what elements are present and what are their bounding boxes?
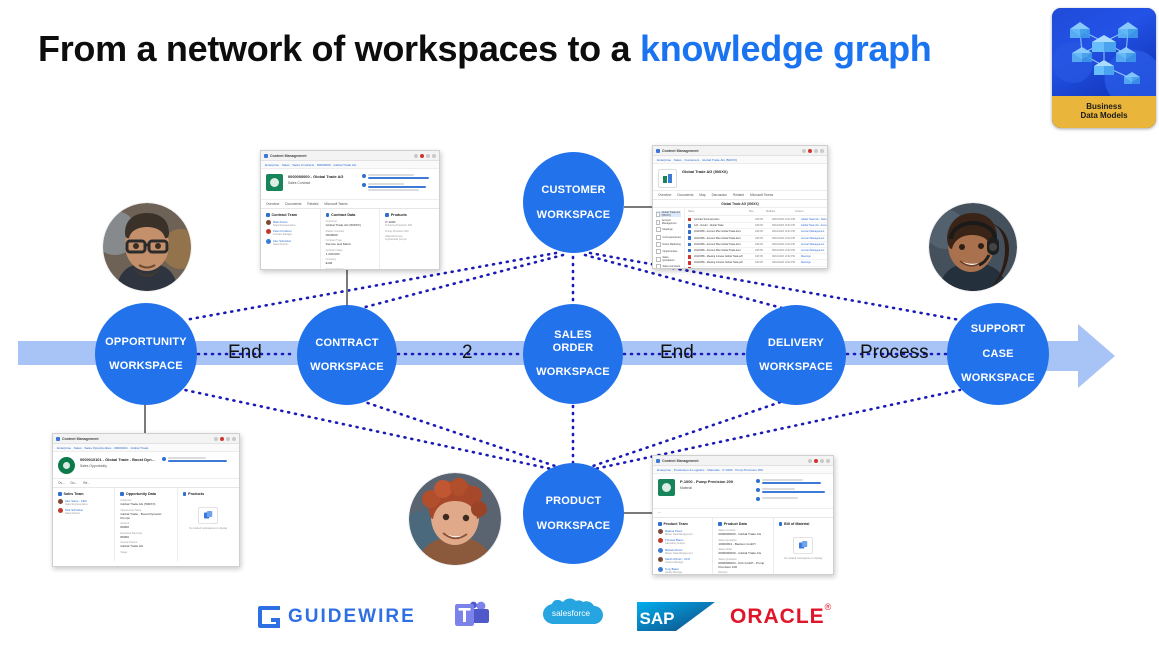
field: Opportunity NameGlobal Trade - Boost Dyn… — [120, 509, 171, 520]
node-label-line: WORKSPACE — [955, 372, 1041, 384]
panel-title: Products — [385, 213, 434, 217]
app-icon — [56, 437, 60, 441]
file-icon — [688, 261, 691, 265]
node-label-line: CASE — [955, 348, 1041, 360]
field: Pump Precision 200 — [385, 230, 434, 233]
activity-feed — [162, 457, 234, 466]
screenshot-opportunity-workspace[interactable]: Content Management Enterprise · Sales · … — [52, 433, 240, 567]
record-title: 0000010101 - Global Trade - Boost Dynami… — [80, 457, 157, 462]
record-header: 0000010101 - Global Trade - Boost Dynami… — [53, 452, 239, 479]
logo-sap: SAP — [637, 598, 715, 636]
tree-item[interactable]: Sales Quotations — [656, 256, 681, 262]
sap-icon: SAP — [637, 602, 715, 632]
field: Sales Order0000000000 - Global Trade AG — [718, 548, 767, 555]
field: Sales Quotation0000000004 - Kirk GmbH - … — [718, 558, 767, 569]
field: Contract Value1.200.000 — [326, 249, 375, 256]
edge-label-end-1: End — [228, 342, 262, 364]
registered-trademark-icon: ® — [825, 602, 832, 612]
salesforce-wordmark: salesforce — [552, 608, 591, 618]
salesforce-cloud-icon: salesforce — [533, 595, 609, 631]
node-label-line: CONTRACT — [304, 337, 390, 349]
tree-item[interactable]: Sales Contracts — [656, 264, 681, 269]
panel-opportunity-data: Opportunity Data CustomerGlobal Trade AG… — [115, 488, 177, 561]
settings-icon — [232, 437, 236, 441]
node-label-line: WORKSPACE — [529, 366, 617, 378]
settings-icon — [820, 149, 824, 153]
avatar — [266, 229, 271, 234]
screenshot-titlebar: Content Management — [261, 151, 439, 161]
tab-documents[interactable]: Documents — [677, 193, 693, 197]
field: Amount80000 — [120, 522, 171, 529]
list-item: Alex SchreiberSales Director — [266, 239, 315, 246]
search-icon — [808, 459, 812, 463]
panel-products: Products No related workspaces to displa… — [178, 488, 239, 561]
node-contract-workspace[interactable]: CONTRACT WORKSPACE — [297, 305, 397, 405]
tab-strip[interactable]: Overview Documents Related Microsoft Tea… — [261, 200, 439, 209]
app-icon — [264, 154, 268, 158]
app-icon — [656, 459, 660, 463]
panel-title: Product Team — [658, 522, 707, 526]
tab-microsoft-teams[interactable]: Microsoft Teams — [324, 202, 347, 206]
edge-label-end-2: End — [660, 342, 694, 364]
screenshot-product-workspace[interactable]: Content Management Enterprise · Producti… — [652, 455, 834, 575]
tab-documents[interactable]: Do... — [71, 481, 78, 485]
list-item: Sarah Schulz - CFOContent Manager — [658, 557, 707, 564]
help-icon — [814, 149, 818, 153]
file-icon — [688, 267, 691, 269]
empty-state-text: No related workspaces to display — [189, 527, 227, 530]
avatar — [162, 457, 166, 461]
avatar — [658, 538, 663, 543]
field: Account NameGlobal Trade AG — [120, 541, 171, 548]
node-label-line: WORKSPACE — [304, 361, 390, 373]
activity-feed — [756, 479, 828, 504]
empty-state-text: No related workspaces to display — [784, 557, 822, 560]
empty-state-icon — [793, 537, 813, 554]
tab-overview[interactable]: Ov... — [58, 481, 65, 485]
node-support-case-workspace[interactable]: SUPPORT CASE WORKSPACE — [947, 303, 1049, 405]
search-icon — [414, 154, 418, 158]
avatar — [756, 488, 760, 492]
panel-title: Product Data — [718, 522, 767, 526]
tab-related[interactable]: Related — [307, 202, 318, 206]
node-customer-workspace[interactable]: CUSTOMER WORKSPACE — [523, 152, 624, 253]
tab-overview[interactable]: Overview — [658, 193, 671, 197]
record-subtitle: Material — [680, 486, 751, 490]
file-icon — [688, 236, 691, 240]
record-title: P-1000 - Pump Precision 200 — [680, 479, 751, 484]
search-icon — [214, 437, 218, 441]
field: Delivery88000116 - Delivered to van Dijk — [718, 571, 767, 575]
field: CustomerGlobal Trade AG (500XX) — [120, 499, 171, 506]
field: Stage — [120, 551, 171, 554]
guidewire-wordmark: GUIDEWIRE — [288, 606, 416, 628]
record-header: Global Trade AG (500XX) — [653, 164, 827, 191]
settings-icon — [826, 459, 830, 463]
avatar — [58, 508, 63, 513]
list-item: Alex Sanie - CEOSales Representative — [58, 499, 109, 506]
field: P-1000Pumping Precision 200 — [385, 220, 434, 227]
notification-icon — [220, 437, 224, 441]
avatar-product-manager — [409, 473, 501, 565]
panel-product-data: Product Data Sales Contract0000000000 - … — [713, 518, 773, 575]
list-item: Nick SchreiberSales Director — [58, 508, 109, 515]
list-item: Thomas BraunLaboratory Analyst — [658, 538, 707, 545]
record-title: Global Trade AG (500XX) — [682, 169, 822, 174]
breadcrumb: Enterprise · Sales · Sales Opportunities… — [53, 444, 239, 452]
avatar — [266, 239, 271, 244]
tree-item[interactable]: Correspondence — [656, 235, 681, 240]
panel-title: Bill of Material — [779, 522, 828, 526]
tab-map[interactable]: Map — [699, 193, 705, 197]
avatar — [756, 479, 760, 483]
help-icon — [226, 437, 230, 441]
record-type-icon — [658, 169, 677, 188]
avatar — [658, 557, 663, 562]
app-title: Content Management — [662, 459, 806, 463]
breadcrumb: Enterprise · Sales · Sales Contracts · 0… — [261, 161, 439, 169]
record-header: P-1000 - Pump Precision 200 Material — [653, 474, 833, 509]
field: Material GroupHydraulical pumps — [385, 235, 434, 241]
tab-related[interactable]: Related — [733, 193, 744, 197]
app-title: Content Management — [270, 154, 412, 158]
panel-bill-of-material: Bill of Material No related workspaces t… — [774, 518, 833, 575]
panel-contract-data: Contract Data CustomerGlobal Trade AG (5… — [321, 209, 381, 270]
panel-title: Opportunity Data — [120, 492, 171, 496]
record-type-icon — [266, 174, 283, 191]
file-icon — [688, 243, 691, 247]
avatar — [362, 183, 366, 187]
node-label-line: CUSTOMER — [531, 184, 617, 196]
table-row[interactable]: 20123456 - Meeting minutes Global Trade.… — [688, 267, 828, 270]
panel-title: Contract Data — [326, 213, 375, 217]
tab-related[interactable]: Re... — [83, 481, 90, 485]
node-opportunity-workspace[interactable]: OPPORTUNITY WORKSPACE — [95, 303, 197, 405]
microsoft-teams-icon — [452, 600, 492, 630]
file-icon — [688, 224, 691, 228]
field: Master Contract0000000 — [326, 230, 375, 237]
document-grid[interactable]: Name Size Modified Content Contract Summ… — [685, 208, 828, 269]
node-label-line: WORKSPACE — [99, 360, 193, 372]
avatar-support-agent — [929, 203, 1017, 291]
tab-more[interactable]: ··· — [658, 511, 661, 515]
record-subtitle: Sales Opportunity — [80, 464, 157, 468]
list-item: Mike FloresSales Representative — [266, 220, 315, 227]
tree-item[interactable]: Meetings — [656, 227, 681, 232]
notification-icon — [808, 149, 812, 153]
table-header: Name Size Modified Content — [688, 210, 828, 216]
field: Sales Quotation10000001 - Bardem GmbH — [718, 539, 767, 546]
settings-icon — [432, 154, 436, 158]
list-item: Michele RossiMaster Data Management — [658, 548, 707, 555]
file-icon — [688, 230, 691, 234]
app-title: Content Management — [62, 437, 212, 441]
breadcrumb: Enterprise · Sales · Customers · Global … — [653, 156, 827, 164]
field: Expected Revenue80000 — [120, 532, 171, 539]
field: Sales Contract0000000000 - Global Trade … — [718, 529, 767, 536]
node-label-line: WORKSPACE — [753, 361, 839, 373]
activity-feed — [362, 174, 434, 195]
node-delivery-workspace[interactable]: DELIVERY WORKSPACE — [746, 305, 846, 405]
tab-strip[interactable]: Overview Documents Map Discussion Relate… — [653, 191, 827, 200]
avatar — [362, 174, 366, 178]
file-icon — [688, 249, 691, 253]
panel-title: Contract Team — [266, 213, 315, 217]
list-item: Peter KrucknerContract Manager — [266, 229, 315, 236]
app-title: Content Management — [662, 149, 800, 153]
tree-item[interactable]: Direct Marketing — [656, 242, 681, 247]
node-label-line: SUPPORT — [955, 323, 1041, 335]
folder-tree[interactable]: Global Trade AG (500XX) Account Manageme… — [653, 208, 685, 269]
field: CustomerGlobal Trade AG (500XX) — [326, 220, 375, 227]
partner-logo-strip: GUIDEWIRE salesforce SAP — [0, 592, 1159, 642]
avatar — [58, 499, 63, 504]
panel-product-team: Product Team Malena PerezMaster Data Man… — [653, 518, 713, 575]
node-label-line: OPPORTUNITY — [99, 336, 193, 348]
tree-item[interactable]: Global Trade AG (500XX) — [656, 211, 681, 217]
sap-wordmark: SAP — [640, 609, 675, 628]
panel-sales-team: Sales Team Alex Sanie - CEOSales Represe… — [53, 488, 115, 561]
node-label-line: WORKSPACE — [531, 520, 617, 532]
avatar-sales-rep — [103, 203, 191, 291]
oracle-wordmark: ORACLE — [730, 605, 825, 629]
panel-contract-team: Contract Team Mike FloresSales Represent… — [261, 209, 321, 270]
tree-item[interactable]: Opportunities — [656, 249, 681, 254]
panel-title: Products — [183, 492, 234, 496]
panel-products: Products P-1000Pumping Precision 200 Pum… — [380, 209, 439, 270]
tab-microsoft-teams[interactable]: Microsoft Teams — [750, 193, 773, 197]
grid-title: Global Trade AG (500XX) — [653, 200, 827, 208]
file-icon — [688, 218, 691, 222]
node-label-line: WORKSPACE — [531, 209, 617, 221]
node-label-line: PRODUCT — [531, 495, 617, 507]
avatar — [658, 567, 663, 572]
field: CurrencyEUR — [326, 258, 375, 265]
screenshot-contract-workspace[interactable]: Content Management Enterprise · Sales · … — [260, 150, 440, 270]
screenshot-titlebar: Content Management — [653, 456, 833, 466]
record-subtitle: Sales Contract — [288, 181, 357, 185]
logo-microsoft-teams — [452, 596, 492, 634]
empty-state-icon — [198, 507, 218, 524]
slide-canvas: From a network of workspaces to a knowle… — [0, 0, 1159, 647]
tab-strip[interactable]: Ov... Do... Re... — [53, 479, 239, 488]
record-type-icon — [58, 457, 75, 474]
guidewire-mark-icon — [256, 604, 282, 630]
breadcrumb: Enterprise · Production & Logistics · Ma… — [653, 466, 833, 474]
help-icon — [820, 459, 824, 463]
avatar — [756, 497, 760, 501]
field: Contract TypeService and Maint. — [326, 239, 375, 246]
avatar — [658, 548, 663, 553]
logo-guidewire: GUIDEWIRE — [256, 598, 416, 636]
node-sales-order-workspace[interactable]: SALES ORDER WORKSPACE — [523, 304, 623, 404]
screenshot-customer-workspace[interactable]: Content Management Enterprise · Sales · … — [652, 145, 828, 269]
list-item: Malena PerezMaster Data Management — [658, 529, 707, 536]
file-icon — [688, 255, 691, 259]
notification-icon — [814, 459, 818, 463]
edge-label-2: 2 — [462, 342, 473, 364]
record-title: 0000000000 - Global Trade AG — [288, 174, 357, 179]
help-icon — [426, 154, 430, 158]
node-label-line: DELIVERY — [753, 337, 839, 349]
edge-label-process: Process — [860, 342, 929, 364]
node-label-line: SALES ORDER — [529, 329, 617, 354]
logo-salesforce: salesforce — [533, 594, 609, 632]
logo-oracle: ORACLE ® — [730, 598, 831, 636]
app-icon — [656, 149, 660, 153]
field: Contract Owner — [326, 268, 375, 270]
tab-strip[interactable]: ··· — [653, 509, 833, 518]
panel-title: Sales Team — [58, 492, 109, 496]
tab-discussion[interactable]: Discussion — [712, 193, 727, 197]
screenshot-titlebar: Content Management — [653, 146, 827, 156]
list-item: Tony BakerQuality Manager — [658, 567, 707, 574]
tab-overview[interactable]: Overview — [266, 202, 279, 206]
search-icon — [802, 149, 806, 153]
record-type-icon — [658, 479, 675, 496]
avatar — [658, 529, 663, 534]
tree-item[interactable]: Account Management — [656, 219, 681, 225]
node-product-workspace[interactable]: PRODUCT WORKSPACE — [523, 463, 624, 564]
screenshot-titlebar: Content Management — [53, 434, 239, 444]
record-header: 0000000000 - Global Trade AG Sales Contr… — [261, 169, 439, 200]
tab-documents[interactable]: Documents — [285, 202, 301, 206]
avatar — [266, 220, 271, 225]
notification-icon — [420, 154, 424, 158]
